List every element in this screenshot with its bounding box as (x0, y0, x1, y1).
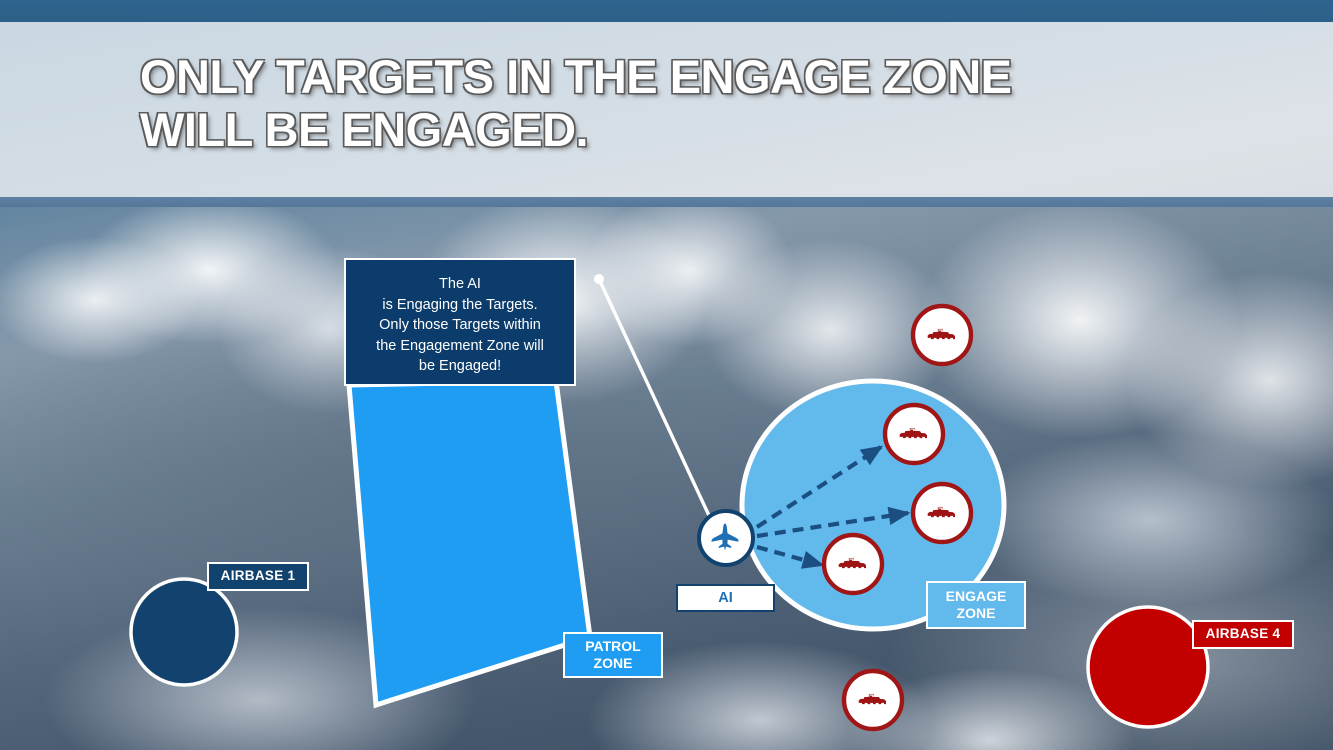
target-marker-5[interactable] (844, 671, 902, 729)
airbase-4-shape[interactable] (1088, 607, 1208, 727)
map-vector-layer (0, 0, 1333, 750)
callout-leader-line (594, 274, 712, 522)
target-marker-4[interactable] (824, 535, 882, 593)
patrol-zone-shape[interactable] (349, 381, 590, 705)
engage-zone-label[interactable]: ENGAGE ZONE (926, 581, 1026, 629)
slide-canvas: ONLY TARGETS IN THE ENGAGE ZONE WILL BE … (0, 0, 1333, 750)
ai-unit-icon[interactable] (699, 511, 753, 565)
target-marker-1[interactable] (913, 306, 971, 364)
airbase-4-label[interactable]: AIRBASE 4 (1192, 620, 1294, 649)
patrol-zone-label[interactable]: PATROL ZONE (563, 632, 663, 678)
ai-explanation-callout: The AI is Engaging the Targets. Only tho… (344, 258, 576, 386)
target-marker-3[interactable] (913, 484, 971, 542)
airbase-1-shape[interactable] (131, 579, 237, 685)
airbase-1-label[interactable]: AIRBASE 1 (207, 562, 309, 591)
target-marker-2[interactable] (885, 405, 943, 463)
ai-unit-label[interactable]: AI (676, 584, 775, 612)
